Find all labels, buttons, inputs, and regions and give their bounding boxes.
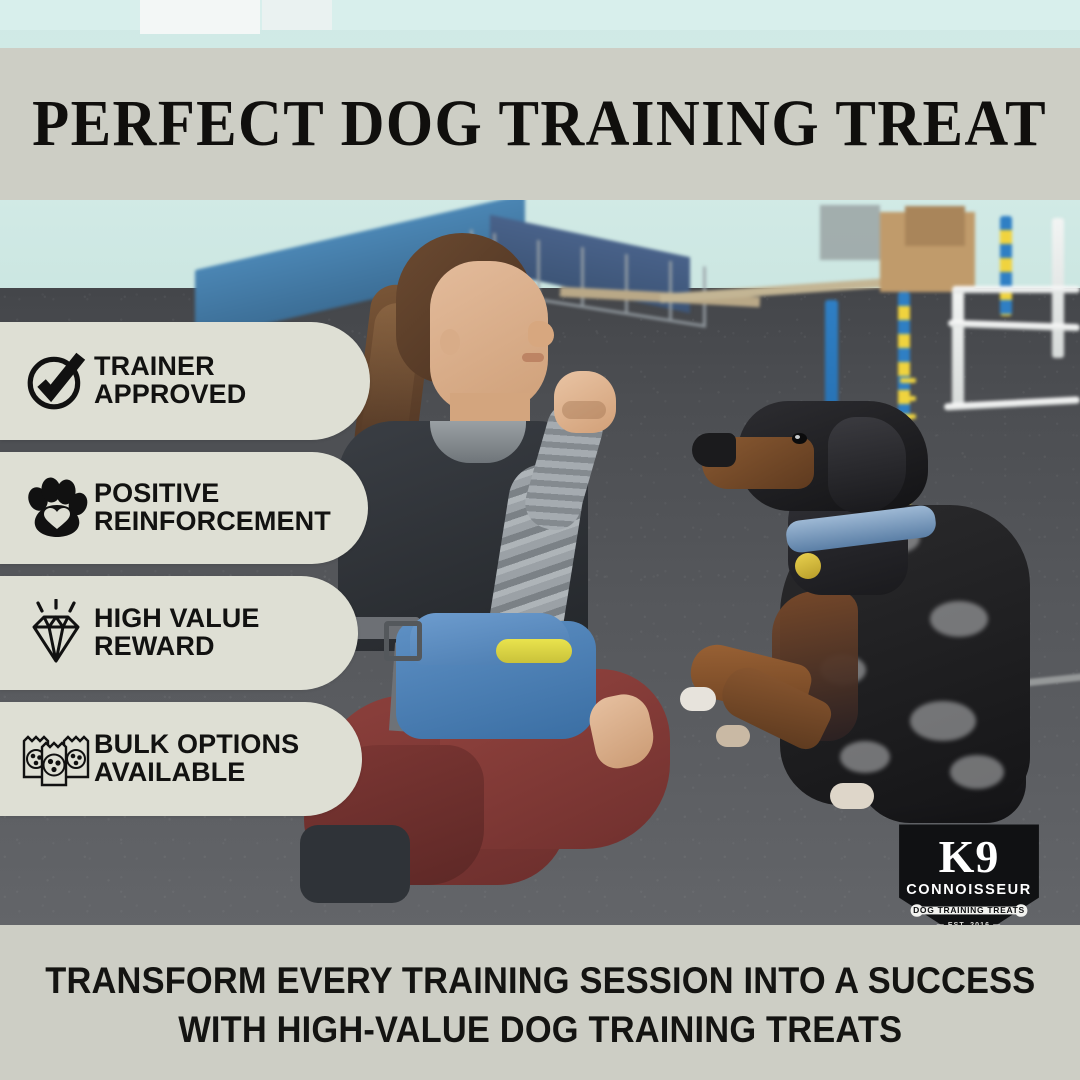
paw-heart-icon xyxy=(18,477,94,539)
treat-pouch-lining xyxy=(496,639,572,663)
feature-line-1: TRAINER xyxy=(94,351,215,381)
feature-label: HIGH VALUE REWARD xyxy=(94,605,260,661)
dog-trainer: K9 xyxy=(300,225,720,925)
poster: K9 xyxy=(0,0,1080,1080)
feature-badge-trainer-approved: TRAINER APPROVED xyxy=(0,322,370,440)
pouch-buckle xyxy=(384,621,422,661)
feature-label: BULK OPTIONS AVAILABLE xyxy=(94,731,299,787)
logo-brand-text: K9 xyxy=(893,834,1045,880)
trainer-shoe xyxy=(300,825,410,903)
dog-id-tag xyxy=(795,553,821,579)
tagline-line-1: TRANSFORM EVERY TRAINING SESSION INTO A … xyxy=(45,960,1035,1002)
check-circle-icon xyxy=(18,348,94,414)
feature-line-1: HIGH VALUE xyxy=(94,603,260,633)
trainer-ear xyxy=(440,329,460,355)
dog-snout xyxy=(692,433,736,467)
page-title: PERFECT DOG TRAINING TREAT xyxy=(0,48,1080,200)
diamond-icon xyxy=(18,599,94,667)
feature-badge-bulk-options: BULK OPTIONS AVAILABLE xyxy=(0,702,362,816)
feature-line-2: APPROVED xyxy=(94,381,246,409)
dog-paw-second xyxy=(716,725,750,747)
tagline-line-2: WITH HIGH-VALUE DOG TRAINING TREATS xyxy=(178,1009,902,1051)
feature-line-2: REINFORCEMENT xyxy=(94,508,331,536)
feature-line-2: AVAILABLE xyxy=(94,759,299,787)
jump-standard-white xyxy=(952,288,964,408)
logo-bone-text: DOG TRAINING TREATS xyxy=(893,903,1045,918)
wooden-cabinet-top xyxy=(905,206,965,246)
trainer-nose xyxy=(528,321,554,347)
trainer-hand-with-treat xyxy=(554,371,616,433)
logo-name-text: CONNOISSEUR xyxy=(893,882,1045,898)
tagline: TRANSFORM EVERY TRAINING SESSION INTO A … xyxy=(0,930,1080,1080)
background-shelf xyxy=(820,205,880,260)
jump-standard-striped-far xyxy=(1000,216,1012,316)
feature-badge-high-value-reward: HIGH VALUE REWARD xyxy=(0,576,358,690)
feature-label: POSITIVE REINFORCEMENT xyxy=(94,480,331,536)
jump-cup xyxy=(900,378,916,383)
dog-ear xyxy=(828,417,906,513)
jump-bar xyxy=(952,286,1080,293)
trainer-lips xyxy=(522,353,544,362)
begging-dog xyxy=(660,395,1080,865)
dog-hind-paw xyxy=(830,783,874,809)
dog-paw xyxy=(680,687,716,711)
dog-eye xyxy=(792,433,807,444)
treat-bags-icon xyxy=(18,729,94,789)
feature-badge-positive-reinforcement: POSITIVE REINFORCEMENT xyxy=(0,452,368,564)
feature-line-1: POSITIVE xyxy=(94,478,219,508)
headline-text: PERFECT DOG TRAINING TREAT xyxy=(33,86,1048,162)
feature-line-2: REWARD xyxy=(94,633,260,661)
feature-label: TRAINER APPROVED xyxy=(94,353,246,409)
feature-line-1: BULK OPTIONS xyxy=(94,729,299,759)
